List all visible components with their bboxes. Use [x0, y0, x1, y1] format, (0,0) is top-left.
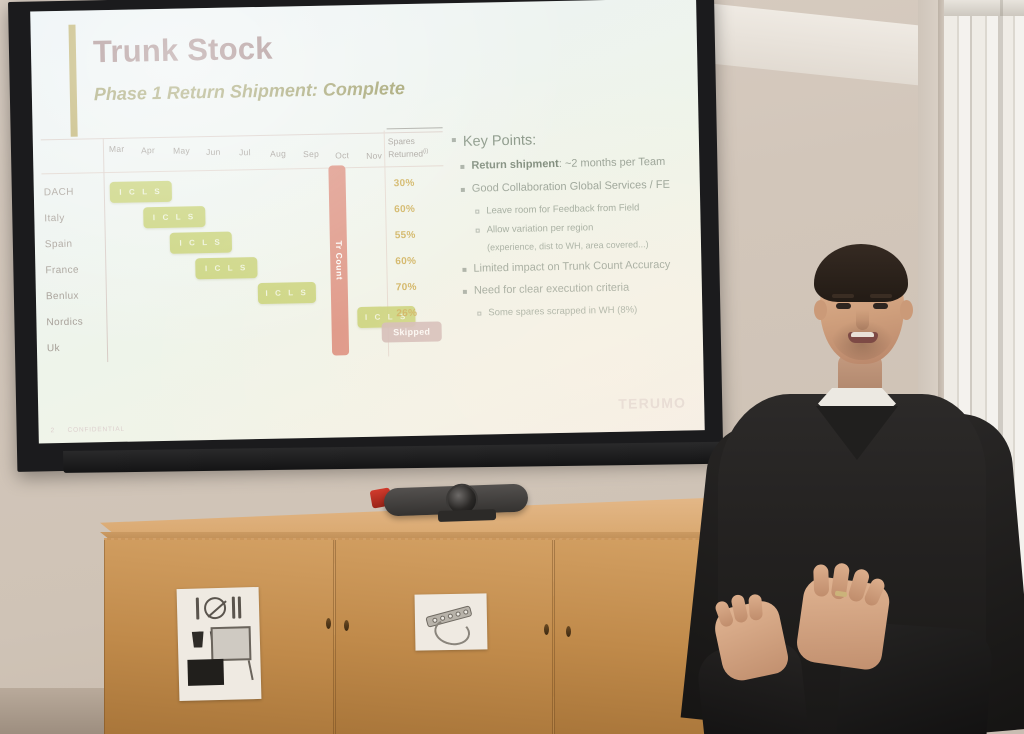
month-label-may: May — [173, 145, 190, 155]
projector-screen: Trunk Stock Phase 1 Return Shipment: Com… — [8, 0, 729, 482]
spares-header-line2: Returned — [388, 149, 423, 160]
cabinet-knob-middle-right[interactable] — [544, 624, 549, 635]
presenter-eye-right — [873, 303, 888, 309]
key-points-heading-text: Key Points: — [463, 132, 537, 149]
spares-header-rule — [387, 127, 443, 129]
no-food-icon — [204, 597, 227, 620]
no-food-poster — [177, 587, 262, 701]
bullet-hollow-square-icon — [475, 209, 479, 213]
spares-value-france: 60% — [395, 255, 439, 267]
bullet-square-icon — [462, 267, 466, 271]
row-label-benlux: Benlux — [46, 291, 79, 303]
key-point-text: Good Collaboration Global Services / FE — [472, 179, 670, 195]
presenter-eye-left — [836, 303, 851, 309]
coffee-machine-photo — [187, 659, 224, 686]
cabinet-knob-middle-left[interactable] — [344, 620, 349, 631]
month-label-jul: Jul — [239, 147, 251, 157]
presenter-hair — [814, 244, 908, 302]
month-label-sep: Sep — [303, 149, 319, 159]
blinds-rail — [944, 0, 1024, 16]
poster-artwork — [182, 592, 257, 696]
key-point-text: Need for clear execution criteria — [474, 282, 630, 297]
key-point-variation-note: (experience, dist to WH, area covered...… — [487, 239, 697, 254]
tr-count-label: Tr Count — [333, 240, 344, 280]
presenter-ear-left — [814, 300, 827, 320]
presenter-right-hand — [794, 574, 891, 671]
storage-cabinet — [100, 498, 730, 734]
key-point-execution-criteria: Need for clear execution criteria — [474, 281, 698, 299]
row-label-nordics: Nordics — [46, 317, 83, 329]
row-label-italy: Italy — [44, 213, 65, 224]
bullet-square-icon — [461, 188, 465, 192]
terumo-logo: TERUMO — [618, 394, 686, 411]
title-accent-bar — [68, 25, 77, 137]
cabinet-knob-right[interactable] — [566, 626, 571, 637]
bullet-square-icon — [452, 138, 456, 142]
key-point-text: Limited impact on Trunk Count Accuracy — [473, 258, 670, 274]
row-label-uk: Uk — [47, 343, 60, 354]
gantt-bar-italy: I C L S — [143, 206, 205, 228]
key-point-spares-scrapped: Some spares scrapped in WH (8%) — [488, 303, 698, 319]
spares-returned-header: Spares Returned(i) — [388, 135, 442, 160]
key-point-text: Some spares scrapped in WH (8%) — [488, 305, 637, 319]
bullet-square-icon — [460, 165, 464, 169]
knife-icon — [232, 597, 236, 619]
gantt-bar-spain: I C L S — [170, 232, 232, 254]
key-point-text: Leave room for Feedback from Field — [486, 202, 639, 216]
spares-value-nordics: 26% — [396, 307, 440, 319]
poster-artwork — [420, 598, 483, 645]
chart-top-rule — [41, 131, 443, 140]
key-points-panel: Key Points: Return shipment: ~2 months p… — [463, 128, 699, 327]
bullet-square-icon — [463, 290, 467, 294]
key-point-bold-prefix: Return shipment — [471, 158, 559, 172]
gantt-bar-benlux: I C L S — [258, 282, 316, 304]
presenter — [690, 228, 1024, 734]
spoon-icon — [238, 596, 242, 618]
chart-header-rule — [41, 165, 443, 174]
key-point-return-shipment: Return shipment: ~2 months per Team — [471, 155, 695, 173]
slide-footer: 2 CONFIDENTIAL — [51, 426, 125, 434]
spares-value-benlux: 70% — [396, 281, 440, 293]
month-label-jun: Jun — [206, 147, 221, 157]
month-label-oct: Oct — [335, 150, 349, 160]
slide-subtitle: Phase 1 Return Shipment: Complete — [94, 78, 405, 105]
skipped-bar-uk: Skipped — [382, 321, 442, 342]
cup-icon-1 — [191, 631, 205, 647]
room-photo-scene: Trunk Stock Phase 1 Return Shipment: Com… — [0, 0, 1024, 734]
spares-header-superscript: (i) — [423, 149, 428, 155]
flipchart-icon — [211, 626, 252, 661]
row-label-spain: Spain — [45, 239, 73, 251]
slide-confidentiality-note: CONFIDENTIAL — [68, 426, 125, 434]
gantt-chart: Mar Apr May Jun Jul Aug Sep Oct Nov Spar… — [41, 131, 454, 375]
tr-count-milestone-bar: Tr Count — [328, 165, 349, 355]
presenter-teeth — [851, 332, 874, 337]
socket-icon — [463, 609, 469, 615]
key-point-feedback-field: Leave room for Feedback from Field — [486, 201, 696, 217]
key-point-limited-impact: Limited impact on Trunk Count Accuracy — [473, 258, 697, 276]
key-points-heading: Key Points: — [463, 128, 695, 151]
camera-stand — [438, 509, 496, 522]
key-point-text: (experience, dist to WH, area covered...… — [487, 240, 649, 253]
cabinet-knob-left[interactable] — [326, 618, 331, 629]
slide-title: Trunk Stock — [93, 31, 273, 71]
presenter-nose — [856, 310, 869, 330]
gantt-bar-dach: I C L S — [110, 181, 172, 203]
socket-icon — [455, 611, 461, 617]
power-strip-poster — [415, 593, 488, 650]
presenter-eyebrow-left — [832, 294, 854, 298]
spares-value-dach: 30% — [394, 177, 438, 189]
key-point-text: : ~2 months per Team — [559, 156, 666, 170]
row-label-dach: DACH — [44, 187, 74, 199]
flipchart-leg-right — [248, 660, 254, 680]
slide-page-number: 2 — [51, 427, 56, 434]
month-label-aug: Aug — [270, 148, 286, 158]
key-point-allow-variation: Allow variation per region — [487, 220, 697, 236]
presenter-ear-right — [900, 300, 913, 320]
spares-value-italy: 60% — [394, 203, 438, 215]
month-label-apr: Apr — [141, 145, 155, 155]
presentation-slide: Trunk Stock Phase 1 Return Shipment: Com… — [30, 0, 705, 443]
gantt-bar-france: I C L S — [195, 257, 257, 279]
month-label-nov: Nov — [366, 151, 382, 161]
finger — [748, 594, 763, 621]
bullet-hollow-square-icon — [477, 312, 481, 316]
bullet-hollow-square-icon — [476, 228, 480, 232]
spares-value-spain: 55% — [395, 229, 439, 241]
key-point-collaboration: Good Collaboration Global Services / FE — [472, 178, 696, 196]
fork-icon — [196, 598, 200, 620]
presenter-eyebrow-right — [870, 294, 892, 298]
finger — [813, 564, 829, 597]
key-point-text: Allow variation per region — [487, 222, 594, 235]
row-label-france: France — [45, 265, 79, 277]
month-label-mar: Mar — [109, 144, 125, 154]
